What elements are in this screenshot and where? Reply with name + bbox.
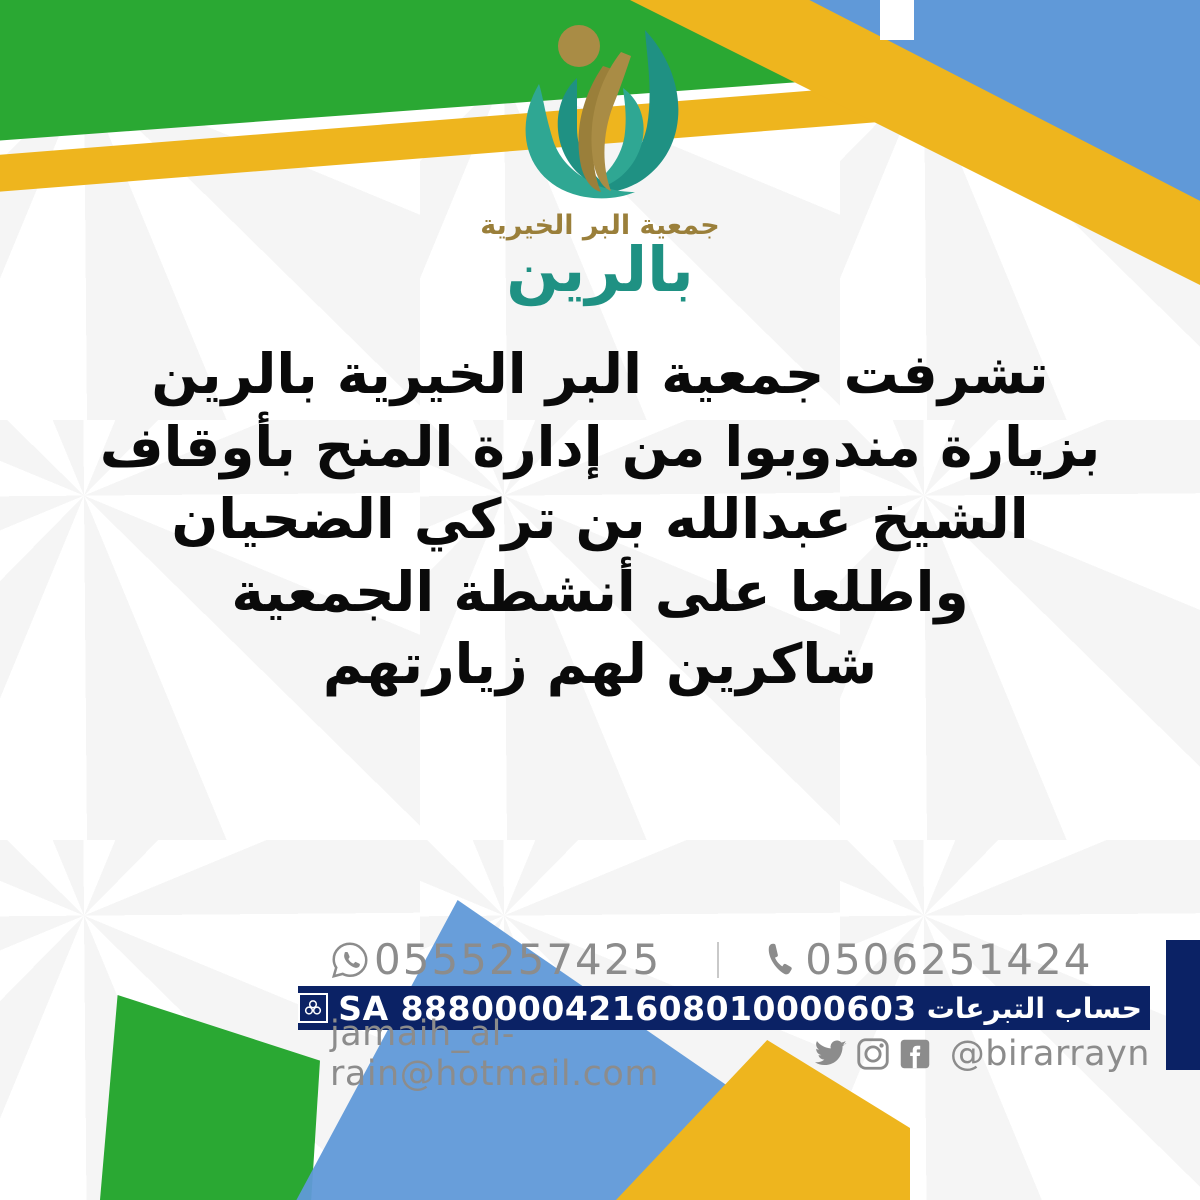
- logo-title: بالرين: [506, 239, 693, 301]
- facebook-icon[interactable]: [896, 1035, 934, 1073]
- email-address[interactable]: jamaih_al-rain@hotmail.com: [330, 1014, 802, 1094]
- phone-contact[interactable]: 0506251424: [761, 939, 1092, 981]
- contact-divider: [717, 942, 719, 978]
- email-social-row: jamaih_al-rain@hotmail.com: [330, 1030, 1150, 1078]
- twitter-icon[interactable]: [812, 1035, 850, 1073]
- phone-row: 0555257425 0506251424: [330, 934, 1150, 986]
- announcement-text: تشرفت جمعية البر الخيرية بالرين بزيارة م…: [60, 338, 1140, 701]
- instagram-icon[interactable]: [854, 1035, 892, 1073]
- announcement-line-3: الشيخ عبدالله بن تركي الضحيان: [60, 483, 1140, 556]
- whatsapp-icon: [330, 940, 370, 980]
- whatsapp-number: 0555257425: [374, 939, 661, 981]
- social-handle[interactable]: @birarrayn: [950, 1034, 1150, 1074]
- social-icons: [812, 1035, 934, 1073]
- announcement-line-1: تشرفت جمعية البر الخيرية بالرين: [60, 338, 1140, 411]
- announcement-line-4: واطلعا على أنشطة الجمعية: [60, 556, 1140, 629]
- donation-account-label: حساب التبرعات: [927, 992, 1142, 1025]
- phone-number: 0506251424: [805, 939, 1092, 981]
- poster-canvas: جمعية البر الخيرية بالرين تشرفت جمعية ال…: [0, 0, 1200, 1200]
- logo-block: جمعية البر الخيرية بالرين: [0, 18, 1200, 318]
- phone-icon: [761, 940, 801, 980]
- announcement-line-2: بزيارة مندوبوا من إدارة المنح بأوقاف: [60, 411, 1140, 484]
- whatsapp-contact[interactable]: 0555257425: [330, 939, 661, 981]
- announcement-line-5: شاكرين لهم زيارتهم: [60, 628, 1140, 701]
- charity-logo-icon: [495, 18, 705, 208]
- al-rajhi-bank-icon: [298, 993, 328, 1023]
- contact-footer: 0555257425 0506251424 حساب التبرعات SA 8…: [0, 930, 1200, 1100]
